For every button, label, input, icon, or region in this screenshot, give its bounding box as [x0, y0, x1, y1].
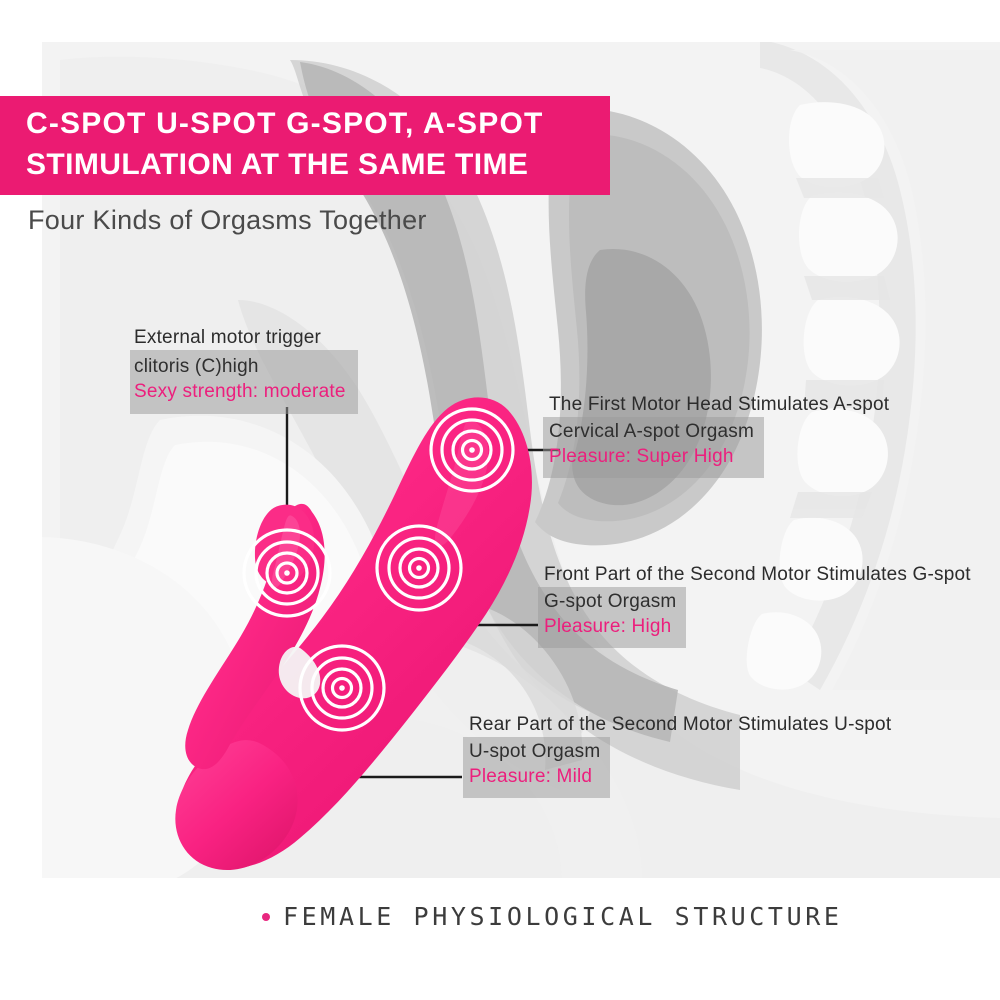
- product-arm-tip: [255, 505, 314, 586]
- callout-clitoris-body: clitoris (C)high Sexy strength: moderate: [130, 350, 358, 414]
- bullet-dot-icon: [262, 913, 270, 921]
- callout-aspot-head: The First Motor Head Stimulates A-spot: [543, 392, 893, 417]
- header-subtitle: Four Kinds of Orgasms Together: [28, 205, 427, 236]
- product-handle-end: [175, 740, 297, 870]
- product-junction-notch: [279, 647, 321, 698]
- callout-gspot-body: G-spot Orgasm Pleasure: High: [538, 587, 686, 648]
- callout-aspot: The First Motor Head Stimulates A-spot C…: [543, 392, 893, 478]
- header-title-line-1: C-SPOT U-SPOT G-SPOT, A-SPOT: [26, 103, 610, 144]
- callout-aspot-pleasure: Pleasure: Super High: [549, 444, 754, 469]
- leader-line-uspot: [342, 688, 462, 777]
- callout-uspot-sub: U-spot Orgasm: [469, 739, 600, 764]
- footer-caption: FEMALE PHYSIOLOGICAL STRUCTURE: [262, 902, 843, 931]
- header-banner: C-SPOT U-SPOT G-SPOT, A-SPOT STIMULATION…: [0, 96, 610, 195]
- callout-aspot-body: Cervical A-spot Orgasm Pleasure: Super H…: [543, 417, 764, 478]
- callout-gspot: Front Part of the Second Motor Stimulate…: [538, 562, 975, 648]
- callout-gspot-sub: G-spot Orgasm: [544, 589, 676, 614]
- uspot-vibration-marker: [300, 646, 384, 730]
- footer-caption-label: FEMALE PHYSIOLOGICAL STRUCTURE: [283, 902, 843, 931]
- product-clitoral-arm: [185, 504, 324, 769]
- clitoris-vibration-marker: [244, 530, 330, 616]
- aspot-vibration-marker: [431, 409, 513, 491]
- product-shaft-highlight: [435, 418, 488, 546]
- callout-clitoris-sub: clitoris (C)high: [134, 354, 346, 379]
- callout-uspot-pleasure: Pleasure: Mild: [469, 764, 600, 789]
- callout-gspot-pleasure: Pleasure: High: [544, 614, 676, 639]
- callout-uspot-head: Rear Part of the Second Motor Stimulates…: [463, 712, 895, 737]
- header-title-line-2: STIMULATION AT THE SAME TIME: [26, 144, 610, 185]
- callout-clitoris-head: External motor trigger: [130, 325, 358, 350]
- infographic-canvas: C-SPOT U-SPOT G-SPOT, A-SPOT STIMULATION…: [0, 0, 1000, 1000]
- callout-clitoris-pleasure: Sexy strength: moderate: [134, 379, 346, 404]
- leader-line-gspot: [419, 568, 538, 625]
- product-arm-highlight: [272, 515, 300, 587]
- callout-uspot: Rear Part of the Second Motor Stimulates…: [463, 712, 895, 798]
- callout-aspot-sub: Cervical A-spot Orgasm: [549, 419, 754, 444]
- callout-uspot-body: U-spot Orgasm Pleasure: Mild: [463, 737, 610, 798]
- gspot-vibration-marker: [377, 526, 461, 610]
- callout-clitoris: External motor trigger clitoris (C)high …: [130, 325, 358, 414]
- callout-gspot-head: Front Part of the Second Motor Stimulate…: [538, 562, 975, 587]
